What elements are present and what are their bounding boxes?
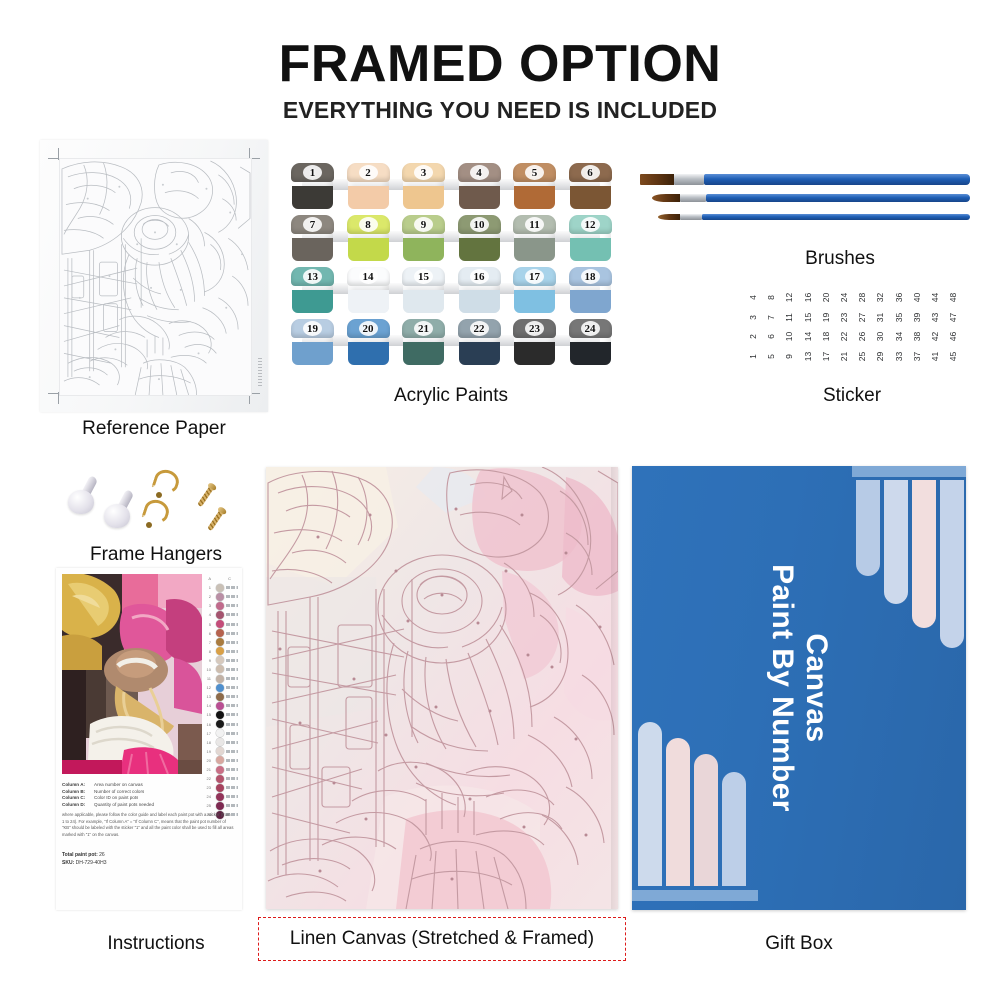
legend-code [226, 604, 238, 607]
paint-pot-liquid [570, 238, 611, 261]
legend-index: 17 [204, 731, 211, 736]
sticker-number[interactable]: 5 [761, 348, 780, 365]
sticker-column: 32313029 [871, 288, 888, 366]
instructions-column-value: Color ID on paint pots [94, 795, 138, 800]
paint-pot-liquid [292, 238, 333, 261]
sticker-column: 48474645 [944, 288, 961, 366]
reference-paper-sheet [40, 140, 268, 412]
sticker-number[interactable]: 20 [816, 289, 835, 306]
paint-pot[interactable]: 11 [514, 215, 555, 261]
sticker-number[interactable]: 15 [798, 309, 817, 326]
paint-pot-number: 23 [514, 320, 555, 337]
legend-row: 21 [204, 765, 238, 774]
sticker-column: 20191817 [817, 288, 834, 366]
legend-index: 1 [204, 585, 211, 590]
sticker-number[interactable]: 48 [943, 289, 962, 306]
screw-icon [205, 506, 227, 533]
instructions-column-key-label: Column C: [62, 795, 94, 800]
legend-row: 3 [204, 601, 238, 610]
sticker-number[interactable]: 33 [889, 348, 908, 365]
paint-pot-number: 10 [459, 216, 500, 233]
sticker-column: 28272625 [853, 288, 870, 366]
instructions-sheet: AC12345678910111213141516171819202122232… [56, 568, 242, 910]
legend-swatch [216, 720, 224, 728]
instructions-column-key-label: Column B: [62, 789, 94, 794]
paint-pot-liquid [348, 342, 389, 365]
brush-handle [706, 194, 970, 202]
instructions-footer: Total paint pot: 26 SKU: DH-729-40H3 [62, 852, 212, 868]
paint-pot-number: 21 [403, 320, 444, 337]
instructions-note: where applicable, please follow the colo… [62, 812, 234, 838]
paint-brush[interactable] [640, 174, 970, 185]
acrylic-paints-group: 123456789101112131415161718192021222324 [292, 163, 610, 368]
sticker-number[interactable]: 41 [925, 348, 944, 365]
paint-pot[interactable]: 10 [459, 215, 500, 261]
paint-pot-liquid [348, 290, 389, 313]
sticker-number[interactable]: 11 [779, 309, 798, 326]
caption-linen-canvas: Linen Canvas (Stretched & Framed) [258, 928, 626, 950]
paint-pot[interactable]: 1 [292, 163, 333, 209]
instructions-color-legend: AC12345678910111213141516171819202122232… [204, 574, 238, 836]
legend-index: 4 [204, 612, 211, 617]
legend-swatch [216, 756, 224, 764]
legend-index: 13 [204, 694, 211, 699]
legend-swatch [216, 675, 224, 683]
paint-pot[interactable]: 21 [403, 319, 444, 365]
legend-code [226, 659, 238, 662]
legend-index: 20 [204, 758, 211, 763]
legend-code [226, 750, 238, 753]
paint-pot[interactable]: 15 [403, 267, 444, 313]
sticker-number[interactable]: 10 [779, 328, 798, 345]
sticker-number[interactable]: 17 [816, 348, 835, 365]
instructions-column-row: Column B:Number of correct colors [62, 789, 208, 794]
product-infographic: FRAMED OPTION EVERYTHING YOU NEED IS INC… [0, 0, 1000, 1000]
paint-pot-number: 16 [459, 268, 500, 285]
paint-pot[interactable]: 5 [514, 163, 555, 209]
legend-swatch [216, 647, 224, 655]
paint-pot[interactable]: 18 [570, 267, 611, 313]
sticker-column: 16151413 [799, 288, 816, 366]
paint-pot-liquid [514, 186, 555, 209]
legend-code [226, 804, 238, 807]
caption-brushes: Brushes [760, 248, 920, 270]
caption-acrylic-paints: Acrylic Paints [292, 385, 610, 407]
sku-value: DH-729-40H3 [76, 860, 107, 866]
sticker-number[interactable]: 16 [798, 289, 817, 306]
sticker-number[interactable]: 29 [870, 348, 889, 365]
instructions-column-value: Quantity of paint pots needed [94, 802, 154, 807]
paint-pot[interactable]: 22 [459, 319, 500, 365]
legend-code [226, 623, 238, 626]
instructions-column-key-label: Column A: [62, 782, 94, 787]
paint-pot[interactable]: 12 [570, 215, 611, 261]
legend-row: 25 [204, 801, 238, 810]
legend-code [226, 795, 238, 798]
sticker-number[interactable]: 14 [798, 328, 817, 345]
legend-swatch [216, 766, 224, 774]
paint-pot-liquid [403, 186, 444, 209]
legend-header-a: A [204, 576, 211, 581]
legend-row: 14 [204, 701, 238, 710]
sticker-number[interactable]: 18 [816, 328, 835, 345]
gift-box-line1: Canvas [800, 633, 833, 742]
sticker-number[interactable]: 47 [943, 309, 962, 326]
legend-header-row: AC [204, 574, 238, 583]
legend-code [226, 613, 238, 616]
sticker-number[interactable]: 23 [834, 309, 853, 326]
paint-pot-liquid [348, 186, 389, 209]
legend-code [226, 641, 238, 644]
legend-swatch [216, 629, 224, 637]
paint-pot[interactable]: 3 [403, 163, 444, 209]
legend-swatch [216, 702, 224, 710]
legend-index: 12 [204, 685, 211, 690]
legend-code [226, 677, 238, 680]
paint-pot-liquid [459, 342, 500, 365]
legend-row: 5 [204, 619, 238, 628]
legend-row: 23 [204, 783, 238, 792]
legend-index: 8 [204, 649, 211, 654]
instructions-column-key: Column A:Area number on canvasColumn B:N… [62, 782, 208, 808]
sticker-number[interactable]: 45 [943, 348, 962, 365]
paint-pot-number: 7 [292, 216, 333, 233]
total-paint-pot-line: Total paint pot: 26 [62, 852, 212, 858]
sticker-number[interactable]: 44 [925, 289, 944, 306]
gift-box: Canvas Paint By Number [632, 466, 966, 910]
paint-pot[interactable]: 20 [348, 319, 389, 365]
legend-code [226, 713, 238, 716]
total-paint-pot-label: Total paint pot: [62, 852, 98, 858]
brush-ferrule [680, 194, 706, 202]
sticker-column: 4321 [744, 288, 761, 366]
sticker-number[interactable]: 3 [743, 309, 762, 326]
legend-index: 5 [204, 622, 211, 627]
paint-pot[interactable]: 19 [292, 319, 333, 365]
sticker-number[interactable]: 37 [907, 348, 926, 365]
legend-index: 3 [204, 603, 211, 608]
paint-pot-row: 789101112 [292, 215, 610, 263]
legend-index: 16 [204, 722, 211, 727]
sticker-sheet: 4321876512111091615141320191817242322212… [744, 288, 962, 366]
paint-pot-number: 13 [292, 268, 333, 285]
sku-line: SKU: DH-729-40H3 [62, 860, 212, 866]
sticker-number[interactable]: 28 [852, 289, 871, 306]
legend-index: 22 [204, 776, 211, 781]
legend-header-b [216, 575, 224, 583]
total-paint-pot-value: 26 [99, 852, 105, 858]
paint-pot-liquid [570, 342, 611, 365]
paint-pot[interactable]: 23 [514, 319, 555, 365]
sku-label: SKU: [62, 860, 74, 866]
legend-index: 11 [204, 676, 211, 681]
legend-row: 18 [204, 738, 238, 747]
paint-pot-number: 17 [514, 268, 555, 285]
brush-handle [704, 174, 970, 185]
paint-pot-number: 12 [570, 216, 611, 233]
legend-header-c: C [224, 576, 231, 581]
paint-pot-liquid [514, 342, 555, 365]
paint-pot-number: 20 [348, 320, 389, 337]
legend-index: 9 [204, 658, 211, 663]
paint-pot[interactable]: 16 [459, 267, 500, 313]
caption-instructions: Instructions [46, 933, 266, 955]
paint-pot-liquid [570, 290, 611, 313]
paint-pot-liquid [292, 290, 333, 313]
legend-code [226, 741, 238, 744]
paint-pot-number: 11 [514, 216, 555, 233]
legend-swatch [216, 738, 224, 746]
legend-code [226, 704, 238, 707]
brush-ferrule [680, 214, 702, 220]
instructions-color-preview [62, 574, 202, 774]
paint-pot[interactable]: 9 [403, 215, 444, 261]
sticker-column: 24232221 [835, 288, 852, 366]
legend-row: 24 [204, 792, 238, 801]
legend-row: 10 [204, 665, 238, 674]
sticker-number[interactable]: 2 [743, 328, 762, 345]
legend-row: 4 [204, 610, 238, 619]
paint-pot[interactable]: 7 [292, 215, 333, 261]
legend-index: 10 [204, 667, 211, 672]
brushes-group [628, 172, 970, 252]
instructions-column-value: Area number on canvas [94, 782, 143, 787]
screw-icon [195, 482, 217, 509]
legend-index: 21 [204, 767, 211, 772]
legend-swatch [216, 665, 224, 673]
legend-swatch [216, 802, 224, 810]
sticker-number[interactable]: 36 [889, 289, 908, 306]
legend-row: 12 [204, 683, 238, 692]
sticker-number[interactable]: 8 [761, 289, 780, 306]
legend-row: 2 [204, 592, 238, 601]
paint-pot-liquid [292, 342, 333, 365]
paint-pot-liquid [514, 238, 555, 261]
paint-pot-row: 131415161718 [292, 267, 610, 315]
frame-hangers-group [62, 468, 258, 538]
reference-paper-lineart [59, 158, 252, 396]
legend-swatch [216, 611, 224, 619]
legend-code [226, 759, 238, 762]
paint-pot-number: 19 [292, 320, 333, 337]
paint-pot-number: 5 [514, 164, 555, 181]
legend-index: 15 [204, 712, 211, 717]
paint-pot-liquid [403, 290, 444, 313]
paint-pot-number: 8 [348, 216, 389, 233]
legend-row: 6 [204, 629, 238, 638]
sticker-number[interactable]: 24 [834, 289, 853, 306]
paint-pot[interactable]: 8 [348, 215, 389, 261]
sticker-column: 40393837 [908, 288, 925, 366]
sticker-number[interactable]: 9 [779, 348, 798, 365]
sticker-number[interactable]: 25 [852, 348, 871, 365]
d-ring-hanger-icon [140, 500, 170, 532]
legend-code [226, 632, 238, 635]
legend-swatch [216, 747, 224, 755]
paint-pot-number: 14 [348, 268, 389, 285]
paint-brush[interactable] [652, 194, 970, 202]
sticker-number[interactable]: 32 [870, 289, 889, 306]
sticker-number[interactable]: 42 [925, 328, 944, 345]
legend-row: 17 [204, 729, 238, 738]
sticker-column: 36353433 [890, 288, 907, 366]
legend-row: 19 [204, 747, 238, 756]
paint-pot-liquid [459, 238, 500, 261]
paint-pot-number: 4 [459, 164, 500, 181]
paint-brush[interactable] [658, 214, 970, 220]
sticker-number[interactable]: 26 [852, 328, 871, 345]
legend-swatch [216, 656, 224, 664]
page-title: FRAMED OPTION [0, 34, 1000, 94]
legend-code [226, 777, 238, 780]
paint-pot-liquid [403, 238, 444, 261]
caption-reference-paper: Reference Paper [40, 418, 268, 440]
sticker-number[interactable]: 40 [907, 289, 926, 306]
legend-row: 11 [204, 674, 238, 683]
brush-tip [640, 174, 674, 185]
caption-gift-box: Gift Box [632, 933, 966, 955]
legend-index: 14 [204, 703, 211, 708]
legend-code [226, 695, 238, 698]
page-subtitle: EVERYTHING YOU NEED IS INCLUDED [0, 97, 1000, 124]
sticker-number[interactable]: 34 [889, 328, 908, 345]
legend-index: 2 [204, 594, 211, 599]
legend-code [226, 768, 238, 771]
sticker-number[interactable]: 38 [907, 328, 926, 345]
legend-swatch [216, 793, 224, 801]
sticker-number[interactable]: 30 [870, 328, 889, 345]
instructions-column-value: Number of correct colors [94, 789, 144, 794]
legend-row: 9 [204, 656, 238, 665]
paint-pot[interactable]: 4 [459, 163, 500, 209]
paint-pot-number: 18 [570, 268, 611, 285]
legend-row: 20 [204, 756, 238, 765]
paint-pot-number: 15 [403, 268, 444, 285]
legend-row: 1 [204, 583, 238, 592]
paint-pot-number: 9 [403, 216, 444, 233]
paint-pot-liquid [514, 290, 555, 313]
sticker-number[interactable]: 43 [925, 309, 944, 326]
sticker-number[interactable]: 6 [761, 328, 780, 345]
sticker-number[interactable]: 46 [943, 328, 962, 345]
sticker-column: 44434241 [926, 288, 943, 366]
legend-index: 7 [204, 640, 211, 645]
instructions-column-key-label: Column D: [62, 802, 94, 807]
legend-swatch [216, 638, 224, 646]
paint-pot-liquid [459, 290, 500, 313]
legend-swatch [216, 775, 224, 783]
legend-swatch [216, 693, 224, 701]
paint-pot[interactable]: 17 [514, 267, 555, 313]
legend-swatch [216, 784, 224, 792]
linen-canvas-lineart [266, 467, 618, 909]
sticker-number[interactable]: 27 [852, 309, 871, 326]
legend-swatch [216, 584, 224, 592]
paint-pot[interactable]: 14 [348, 267, 389, 313]
legend-swatch [216, 729, 224, 737]
sticker-number[interactable]: 39 [907, 309, 926, 326]
paint-pot-number: 2 [348, 164, 389, 181]
brush-handle [702, 214, 970, 220]
legend-index: 19 [204, 749, 211, 754]
sticker-number[interactable]: 21 [834, 348, 853, 365]
caption-sticker: Sticker [752, 385, 952, 407]
legend-code [226, 650, 238, 653]
sticker-number[interactable]: 35 [889, 309, 908, 326]
legend-row: 13 [204, 692, 238, 701]
brush-tip [658, 214, 680, 220]
sticker-number[interactable]: 7 [761, 309, 780, 326]
paint-pot[interactable]: 13 [292, 267, 333, 313]
linen-canvas-panel [266, 467, 618, 909]
sticker-number[interactable]: 12 [779, 289, 798, 306]
legend-code [226, 723, 238, 726]
instructions-column-row: Column D:Quantity of paint pots needed [62, 802, 208, 807]
paint-pot-number: 24 [570, 320, 611, 337]
legend-code [226, 732, 238, 735]
legend-code [226, 586, 238, 589]
legend-row: 15 [204, 710, 238, 719]
legend-row: 22 [204, 774, 238, 783]
gift-box-title: Canvas Paint By Number [765, 564, 833, 812]
paint-pot-liquid [403, 342, 444, 365]
legend-row: 16 [204, 720, 238, 729]
paint-pot[interactable]: 24 [570, 319, 611, 365]
paint-pot-row: 192021222324 [292, 319, 610, 367]
sticker-number[interactable]: 31 [870, 309, 889, 326]
paint-pot[interactable]: 2 [348, 163, 389, 209]
legend-swatch [216, 711, 224, 719]
paint-pot-liquid [570, 186, 611, 209]
sticker-number[interactable]: 1 [743, 348, 762, 365]
d-ring-hanger-icon [150, 470, 180, 502]
legend-swatch [216, 602, 224, 610]
instructions-column-row: Column C:Color ID on paint pots [62, 795, 208, 800]
legend-swatch [216, 593, 224, 601]
legend-code [226, 595, 238, 598]
gift-box-line2: Paint By Number [766, 564, 799, 812]
legend-code [226, 668, 238, 671]
legend-code [226, 686, 238, 689]
paint-pot-liquid [459, 186, 500, 209]
instructions-column-row: Column A:Area number on canvas [62, 782, 208, 787]
legend-swatch [216, 684, 224, 692]
legend-code [226, 786, 238, 789]
caption-frame-hangers: Frame Hangers [46, 544, 266, 566]
reference-paper-watermark [258, 356, 262, 386]
paint-pot-number: 6 [570, 164, 611, 181]
legend-index: 6 [204, 631, 211, 636]
canvas-frame-edge [611, 467, 618, 909]
sticker-number[interactable]: 13 [798, 348, 817, 365]
paint-pot-liquid [348, 238, 389, 261]
legend-row: 8 [204, 647, 238, 656]
sticker-column: 1211109 [780, 288, 797, 366]
sticker-number[interactable]: 4 [743, 289, 762, 306]
paint-pot-row: 123456 [292, 163, 610, 211]
sticker-number[interactable]: 19 [816, 309, 835, 326]
sticker-column: 8765 [762, 288, 779, 366]
paint-pot-number: 3 [403, 164, 444, 181]
paint-pot[interactable]: 6 [570, 163, 611, 209]
legend-swatch [216, 620, 224, 628]
brush-tip [652, 194, 680, 202]
paint-pot-number: 22 [459, 320, 500, 337]
paint-pot-liquid [292, 186, 333, 209]
sticker-number[interactable]: 22 [834, 328, 853, 345]
paint-pot-number: 1 [292, 164, 333, 181]
brush-ferrule [674, 174, 704, 185]
